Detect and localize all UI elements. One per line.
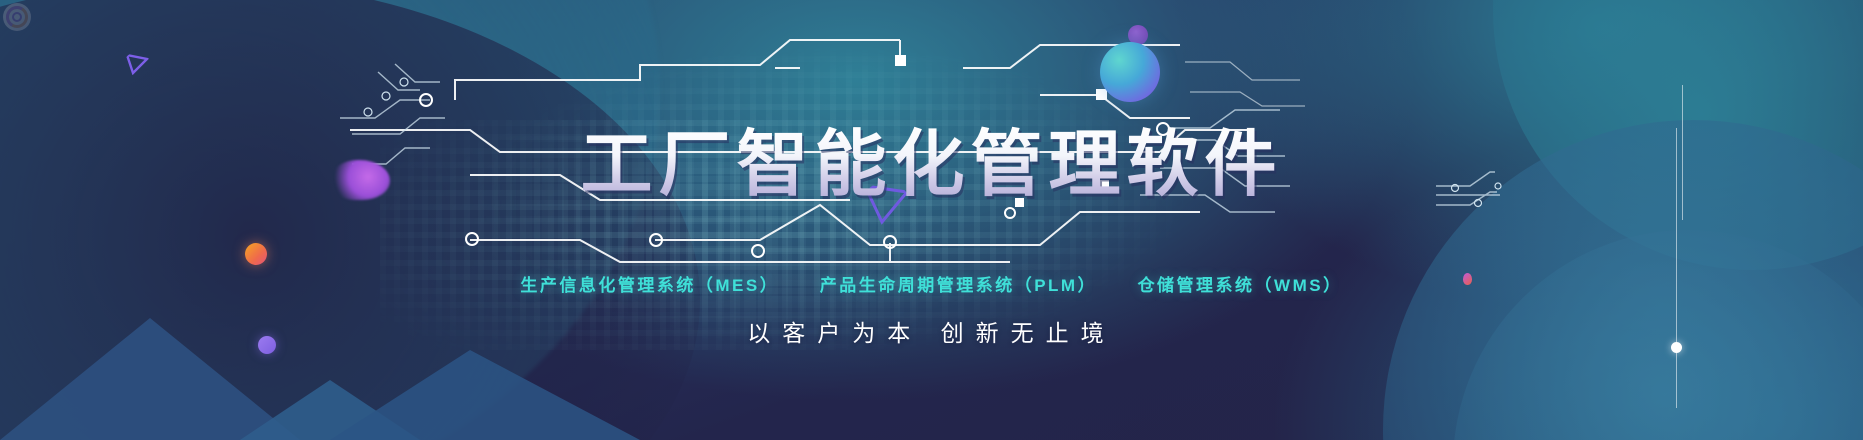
system-label-plm: 产品生命周期管理系统（PLM） <box>820 271 1097 296</box>
system-label-wms: 仓储管理系统（WMS） <box>1138 271 1343 296</box>
banner-subsystems: 生产信息化管理系统（MES） 产品生命周期管理系统（PLM） 仓储管理系统（WM… <box>0 271 1863 296</box>
gradient-sphere <box>1100 42 1160 102</box>
system-label-mes: 生产信息化管理系统（MES） <box>520 271 779 296</box>
banner-title: 工厂智能化管理软件 <box>0 126 1863 204</box>
orange-dot-decoration <box>245 243 267 265</box>
purple-triangle-icon-1 <box>124 52 150 76</box>
hero-banner: 工厂智能化管理软件 生产信息化管理系统（MES） 产品生命周期管理系统（PLM）… <box>0 0 1863 440</box>
circuit-board-graphic <box>0 0 1863 440</box>
banner-tagline: 以客户为本 创新无止境 <box>0 314 1863 348</box>
